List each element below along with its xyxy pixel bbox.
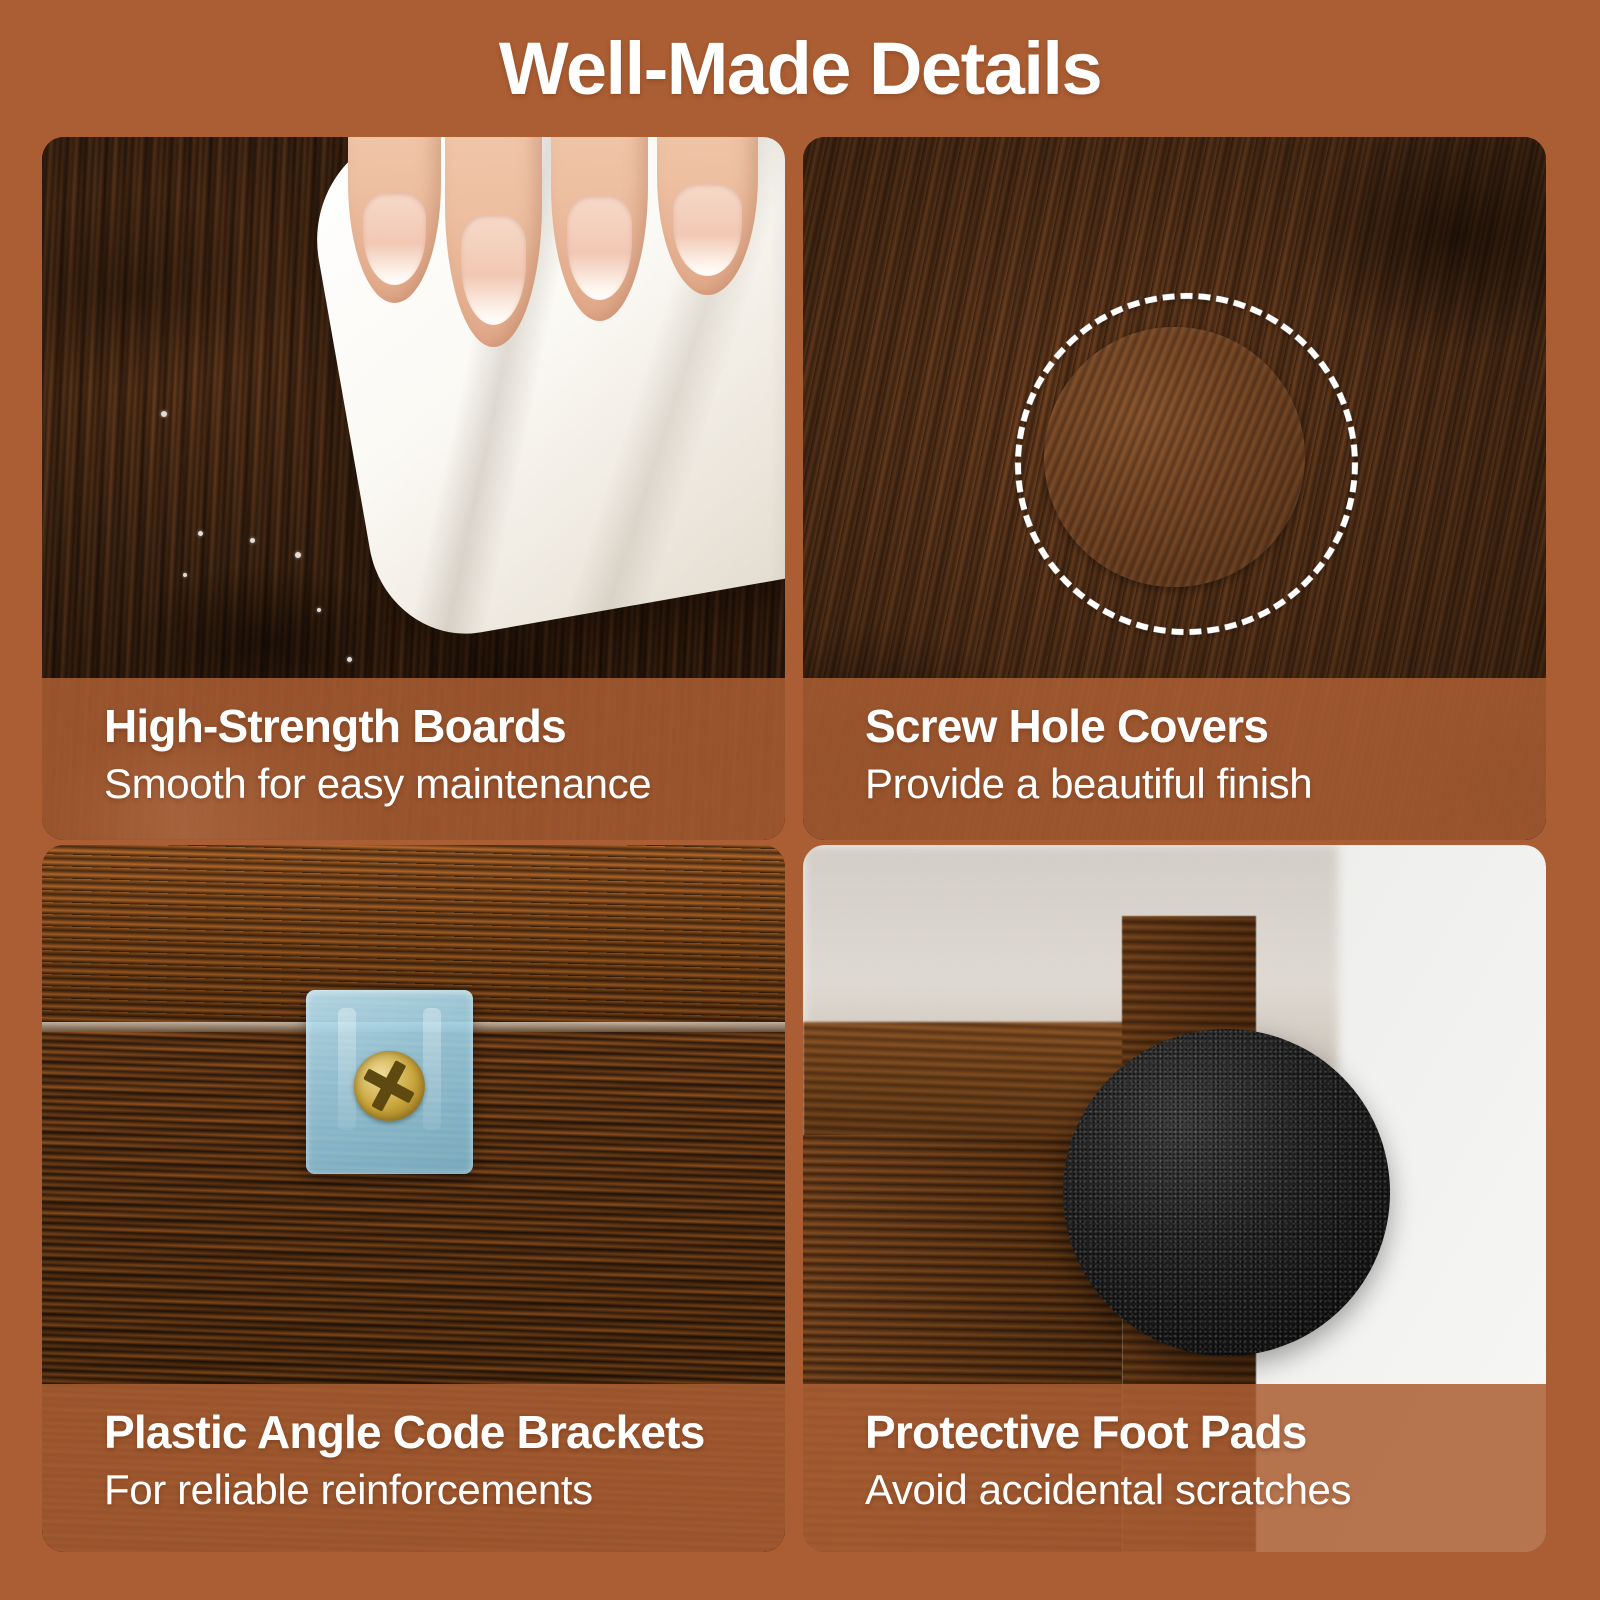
panel-title: Protective Foot Pads [865, 1408, 1546, 1456]
infographic-page: Well-Made Details [0, 0, 1600, 1600]
feature-panel-protective-foot-pads[interactable]: Protective Foot Pads Avoid accidental sc… [803, 845, 1546, 1552]
feature-panel-high-strength-boards[interactable]: High-Strength Boards Smooth for easy mai… [42, 137, 785, 840]
feature-panel-plastic-angle-code-brackets[interactable]: Plastic Angle Code Brackets For reliable… [42, 845, 785, 1552]
panel-title: Plastic Angle Code Brackets [104, 1408, 785, 1456]
panel-caption: Plastic Angle Code Brackets For reliable… [42, 1384, 785, 1552]
panel-caption: High-Strength Boards Smooth for easy mai… [42, 678, 785, 840]
panel-subtitle: Smooth for easy maintenance [104, 760, 785, 808]
phillips-screw [354, 1050, 424, 1120]
panel-title: Screw Hole Covers [865, 702, 1546, 750]
panel-title: High-Strength Boards [104, 702, 785, 750]
plastic-angle-bracket [306, 990, 473, 1174]
hand [339, 137, 785, 460]
feature-grid: High-Strength Boards Smooth for easy mai… [42, 137, 1558, 1552]
panel-subtitle: For reliable reinforcements [104, 1466, 785, 1514]
fingernail [673, 184, 742, 276]
panel-caption: Protective Foot Pads Avoid accidental sc… [803, 1384, 1546, 1552]
protective-foot-pad [1063, 1029, 1390, 1356]
fingernail [461, 215, 527, 325]
feature-panel-screw-hole-covers[interactable]: Screw Hole Covers Provide a beautiful fi… [803, 137, 1546, 840]
fingernail [567, 196, 633, 300]
page-title: Well-Made Details [0, 0, 1600, 137]
panel-subtitle: Avoid accidental scratches [865, 1466, 1546, 1514]
panel-caption: Screw Hole Covers Provide a beautiful fi… [803, 678, 1546, 840]
fingernail [363, 193, 426, 285]
panel-subtitle: Provide a beautiful finish [865, 760, 1546, 808]
